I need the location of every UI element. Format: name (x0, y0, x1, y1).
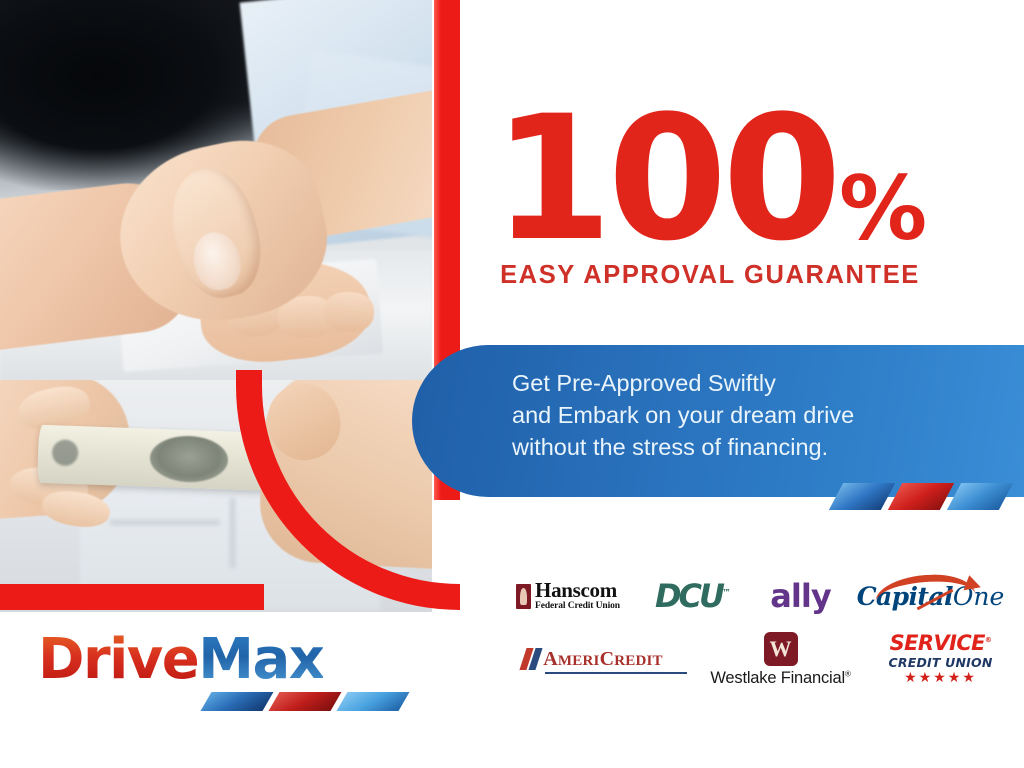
lender-ally[interactable]: ally (748, 577, 853, 615)
percent-number: 100 (493, 108, 837, 249)
capital-one-swoosh-icon (874, 572, 975, 604)
handshake-photo (0, 0, 432, 392)
promo-banner: 100 % EASY APPROVAL GUARANTEE Get Pre-Ap… (0, 0, 1024, 768)
chevron-light-blue-icon (947, 483, 1013, 510)
hanscom-emblem-icon (516, 584, 531, 609)
amc-a: A (543, 648, 558, 670)
callout-panel: Get Pre-Approved Swiftly and Embark on y… (412, 345, 1024, 497)
logo-text-drive: Drive (38, 627, 198, 692)
lender-hanscom[interactable]: Hanscom Federal Credit Union (498, 580, 638, 612)
headline-block: 100 % EASY APPROVAL GUARANTEE (500, 108, 920, 290)
amc-c: C (600, 648, 615, 670)
westlake-trademark: ® (845, 669, 851, 678)
service-cu-subtitle: CREDIT UNION (889, 657, 993, 670)
lender-row-2: AMERICREDIT W Westlake Financial® SERVIC… (498, 628, 1008, 690)
westlake-name-text: Westlake Financial (710, 669, 845, 687)
hanscom-name: Hanscom (535, 580, 620, 601)
lender-logos: Hanscom Federal Credit Union DCU™ ally C… (498, 568, 1008, 690)
ally-name: ally (770, 577, 830, 615)
lender-service-credit-union[interactable]: SERVICE® CREDIT UNION ★★★★★ (873, 633, 1008, 684)
bill-seal (52, 439, 79, 466)
drivemax-logo[interactable]: DriveMax (38, 632, 323, 688)
westlake-name: Westlake Financial® (710, 670, 850, 687)
lender-row-1: Hanscom Federal Credit Union DCU™ ally C… (498, 568, 1008, 624)
chevron-red-icon (888, 483, 954, 510)
americredit-name: AMERICREDIT (543, 648, 662, 671)
lender-americredit[interactable]: AMERICREDIT (498, 648, 688, 671)
amc-redit: REDIT (614, 653, 663, 669)
chevron-blue-icon (829, 483, 895, 510)
westlake-monogram-letter: W (770, 638, 792, 660)
lender-dcu[interactable]: DCU™ (638, 577, 748, 615)
finger-3 (323, 291, 374, 333)
lender-capital-one[interactable]: CapitalOne (853, 584, 1008, 609)
service-cu-word: SERVICE (890, 631, 985, 655)
logo-chevron-light-blue-icon (337, 692, 410, 711)
service-cu-stars-icon: ★★★★★ (889, 670, 993, 684)
drivemax-wordmark: DriveMax (38, 632, 323, 688)
dcu-name: DCU™ (655, 577, 731, 615)
dcu-text: DCU (655, 577, 722, 615)
headline-subtitle: EASY APPROVAL GUARANTEE (500, 261, 920, 290)
service-cu-trademark: ® (985, 636, 991, 644)
logo-text-max: Max (198, 627, 323, 692)
americredit-slashes-icon (523, 648, 539, 670)
logo-chevron-group (206, 692, 404, 711)
callout-line-3: without the stress of financing. (512, 431, 982, 463)
westlake-monogram-icon: W (764, 632, 798, 666)
chevron-accent-group (836, 483, 1006, 510)
bill-portrait (149, 435, 229, 484)
dcu-trademark: ™ (722, 588, 731, 598)
logo-chevron-red-icon (269, 692, 342, 711)
red-bottom-bar (0, 584, 264, 610)
logo-chevron-blue-icon (201, 692, 274, 711)
callout-line-2: and Embark on your dream drive (512, 399, 982, 431)
percent-row: 100 % (500, 108, 920, 249)
callout-line-1: Get Pre-Approved Swiftly (512, 367, 982, 399)
amc-meri: MERI (558, 653, 600, 669)
americredit-rule (545, 672, 687, 674)
lender-westlake-financial[interactable]: W Westlake Financial® (688, 632, 873, 687)
service-cu-name: SERVICE® (889, 633, 993, 654)
hanscom-subtitle: Federal Credit Union (535, 602, 620, 612)
percent-symbol: % (839, 173, 927, 245)
callout-text: Get Pre-Approved Swiftly and Embark on y… (512, 367, 982, 463)
